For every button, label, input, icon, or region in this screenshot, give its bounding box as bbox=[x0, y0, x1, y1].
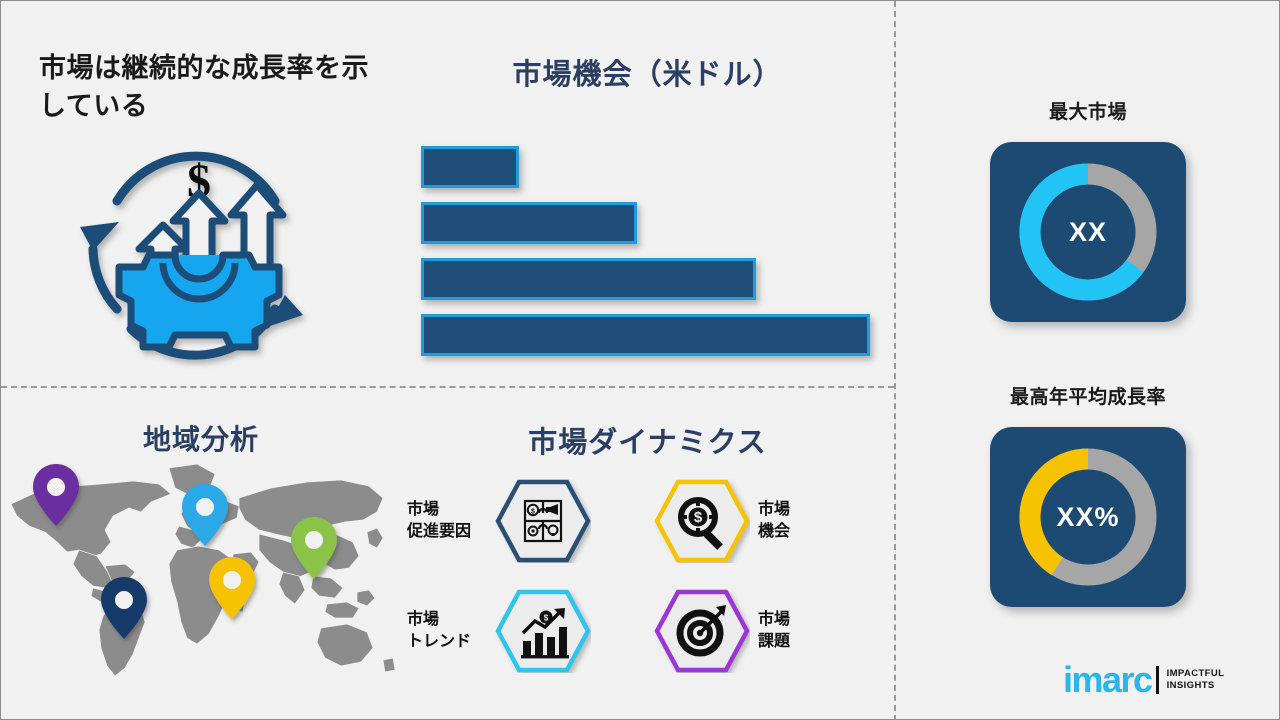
pin-europe bbox=[182, 484, 228, 546]
pin-south-america bbox=[101, 577, 147, 639]
bar-2 bbox=[421, 202, 637, 244]
kpi-value-largest-market: XX bbox=[990, 142, 1186, 322]
logo-wordmark: imarc bbox=[1063, 662, 1152, 698]
dynamics-item-opportunities[interactable]: $ 市場 機会 bbox=[654, 476, 854, 566]
regional-analysis-panel: 地域分析 bbox=[1, 386, 401, 720]
svg-text:$: $ bbox=[531, 509, 535, 516]
world-map bbox=[1, 446, 401, 691]
map-pin-group bbox=[33, 464, 337, 639]
imarc-logo: imarc IMPACTFUL INSIGHTS bbox=[1063, 657, 1263, 703]
bar-chart-growth-icon: $ bbox=[495, 589, 591, 673]
bar-row bbox=[421, 258, 756, 300]
puzzle-strategy-icon: $ bbox=[495, 479, 591, 563]
pin-middle-east bbox=[209, 557, 255, 619]
logo-tagline-line1: IMPACTFUL bbox=[1167, 668, 1225, 680]
kpi-title-highest-cagr: 最高年平均成長率 bbox=[895, 382, 1280, 409]
magnifier-dollar-icon: $ bbox=[654, 479, 750, 563]
svg-text:$: $ bbox=[694, 509, 703, 526]
pin-north-america bbox=[33, 464, 79, 526]
dynamics-item-trends[interactable]: 市場 トレンド bbox=[407, 586, 607, 676]
market-dynamics-panel: 市場ダイナミクス 市場 促進要因 bbox=[401, 386, 894, 720]
dynamics-label-opportunities: 市場 機会 bbox=[750, 499, 840, 542]
dynamics-item-challenges[interactable]: 市場 課題 bbox=[654, 586, 854, 676]
infographic-slide: 市場は継続的な成長率を示している bbox=[0, 0, 1280, 720]
kpi-value-highest-cagr: XX% bbox=[990, 427, 1186, 607]
dynamics-label-challenges: 市場 課題 bbox=[750, 609, 840, 652]
logo-tagline-line2: INSIGHTS bbox=[1167, 680, 1225, 692]
bar-3 bbox=[421, 258, 756, 300]
kpi-largest-market: 最大市場 XX bbox=[895, 97, 1280, 322]
pin-east-asia bbox=[291, 517, 337, 579]
dynamics-label-trends: 市場 トレンド bbox=[407, 609, 495, 652]
market-opportunity-panel: 市場機会（米ドル） bbox=[401, 1, 894, 386]
kpi-card-largest-market: XX bbox=[990, 142, 1186, 322]
growth-cycle-gear-dollar-icon: $ bbox=[71, 129, 321, 374]
market-opportunity-title: 市場機会（米ドル） bbox=[401, 51, 894, 93]
bar-4 bbox=[421, 314, 870, 356]
bar-row bbox=[421, 146, 519, 188]
svg-text:$: $ bbox=[544, 614, 549, 623]
market-dynamics-title: 市場ダイナミクス bbox=[401, 419, 894, 461]
kpi-column: 最大市場 XX 最高年平均成長率 bbox=[895, 1, 1280, 720]
logo-divider bbox=[1156, 666, 1159, 694]
growth-title: 市場は継続的な成長率を示している bbox=[39, 49, 379, 126]
dynamics-item-drivers[interactable]: 市場 促進要因 bbox=[407, 476, 607, 566]
dynamics-label-drivers: 市場 促進要因 bbox=[407, 499, 495, 542]
target-arrow-icon bbox=[654, 589, 750, 673]
growth-panel: 市場は継続的な成長率を示している bbox=[1, 1, 401, 386]
kpi-highest-cagr: 最高年平均成長率 XX% bbox=[895, 382, 1280, 607]
bar-row bbox=[421, 314, 870, 356]
kpi-title-largest-market: 最大市場 bbox=[895, 97, 1280, 124]
bar-row bbox=[421, 202, 637, 244]
kpi-card-highest-cagr: XX% bbox=[990, 427, 1186, 607]
bar-1 bbox=[421, 146, 519, 188]
bar-chart bbox=[421, 146, 881, 356]
logo-tagline: IMPACTFUL INSIGHTS bbox=[1167, 668, 1225, 693]
